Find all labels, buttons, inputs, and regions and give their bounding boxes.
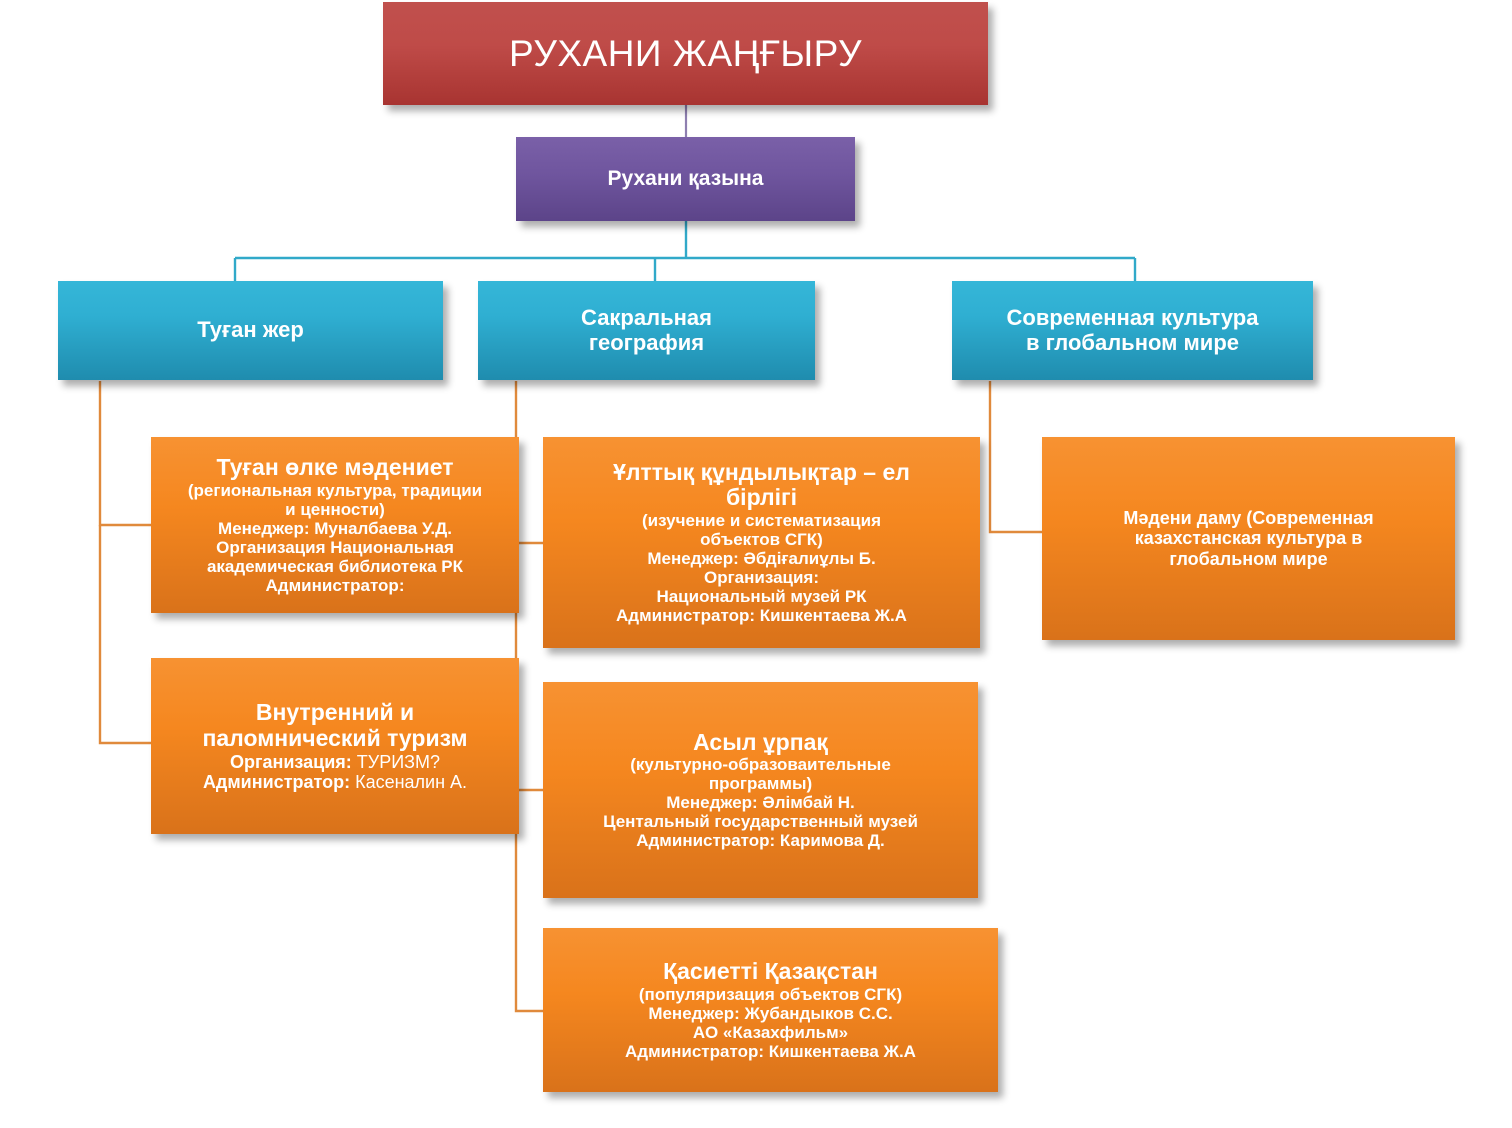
- branch-1-label: Туған жер: [66, 318, 435, 343]
- program-box-tugan-olke-madeniet[interactable]: Туған өлке мәдениет (региональная культу…: [151, 437, 519, 613]
- branch-2-line-1: Сакральная: [486, 306, 807, 331]
- wire-branch2-to-prog3: [516, 790, 543, 1011]
- program-box-vnutrenniy-turizm[interactable]: Внутренний и паломнический туризм Органи…: [151, 658, 519, 834]
- program-asyl-urpaq-manager: Менеджер: Әлімбай Н.: [551, 793, 970, 812]
- program-turizm-org-label: Организация:: [230, 752, 352, 772]
- program-ulttyq-heading-a: Ұлттық құндылықтар – ел: [551, 460, 972, 486]
- root-title-label: РУХАНИ ЖАҢҒЫРУ: [391, 33, 980, 74]
- program-ulttyq-manager: Менеджер: Әбдіғалиұлы Б.: [551, 549, 972, 568]
- branch-1-line-1: Туған жер: [197, 317, 304, 342]
- wire-branch3-to-prog1: [990, 381, 1042, 532]
- branch-3-label: Современная культура в глобальном мире: [960, 306, 1305, 355]
- program-ulttyq-subtitle-b: объектов СГК): [551, 530, 972, 549]
- subtitle-box[interactable]: Рухани қазына: [516, 137, 855, 221]
- program-qasietti-content: Қасиетті Қазақстан (популяризация объект…: [551, 959, 990, 1061]
- program-qasietti-manager: Менеджер: Жубандыков С.С.: [551, 1004, 990, 1023]
- program-turizm-heading-b: паломнический туризм: [159, 726, 511, 752]
- program-qasietti-admin: Администратор: Кишкентаева Ж.А: [551, 1042, 990, 1061]
- program-ulttyq-admin: Администратор: Кишкентаева Ж.А: [551, 606, 972, 625]
- branch-box-tugan-zher[interactable]: Туған жер: [58, 281, 443, 380]
- program-box-asyl-urpaq[interactable]: Асыл ұрпақ (культурно-образоваительные п…: [543, 682, 978, 898]
- program-madeni-damu-line-c: глобальном мире: [1050, 549, 1447, 569]
- branch-box-sakralnaya-geografiya[interactable]: Сакральная география: [478, 281, 815, 380]
- program-qasietti-heading: Қасиетті Қазақстан: [551, 959, 990, 985]
- program-box-qasietti-qazaqstan[interactable]: Қасиетті Қазақстан (популяризация объект…: [543, 928, 998, 1092]
- program-madeni-damu-line-a: Мәдени даму (Современная: [1050, 508, 1447, 528]
- branch-box-sovremennaya-kultura[interactable]: Современная культура в глобальном мире: [952, 281, 1313, 380]
- program-turizm-heading-a: Внутренний и: [159, 700, 511, 726]
- subtitle-label: Рухани қазына: [524, 167, 847, 191]
- program-asyl-urpaq-org: Центальный государственный музей: [551, 812, 970, 831]
- branch-2-label: Сакральная география: [486, 306, 807, 355]
- program-ulttyq-heading-b: бірлігі: [726, 484, 797, 510]
- program-ulttyq-heading-row: бірлігі (изучение и систематизация: [551, 485, 972, 530]
- program-turizm-admin-row: Администратор: Касеналин А.: [159, 772, 511, 792]
- wire-branch1-to-prog1: [100, 381, 151, 525]
- program-tugan-olke-content: Туған өлке мәдениет (региональная культу…: [159, 455, 511, 595]
- branch-3-line-2: в глобальном мире: [960, 331, 1305, 356]
- program-ulttyq-org-b: Национальный музей РК: [551, 587, 972, 606]
- program-madeni-damu-content: Мәдени даму (Современная казахстанская к…: [1050, 508, 1447, 568]
- program-ulttyq-content: Ұлттық құндылықтар – ел бірлігі (изучени…: [551, 460, 972, 626]
- branch-3-line-1: Современная культура: [960, 306, 1305, 331]
- program-asyl-urpaq-admin: Администратор: Каримова Д.: [551, 831, 970, 850]
- branch-2-line-2: география: [486, 331, 807, 356]
- program-turizm-admin-label: Администратор:: [203, 772, 350, 792]
- wire-branch1-to-prog2: [100, 525, 151, 743]
- program-box-ulttyq-qundylyqtar[interactable]: Ұлттық құндылықтар – ел бірлігі (изучени…: [543, 437, 980, 648]
- program-box-madeni-damu[interactable]: Мәдени даму (Современная казахстанская к…: [1042, 437, 1455, 640]
- program-asyl-urpaq-subtitle-b: программы): [551, 774, 970, 793]
- program-turizm-org-row: Организация: ТУРИЗМ?: [159, 752, 511, 772]
- program-asyl-urpaq-content: Асыл ұрпақ (культурно-образоваительные п…: [551, 730, 970, 851]
- program-ulttyq-org-a: Организация:: [551, 568, 972, 587]
- program-turizm-content: Внутренний и паломнический туризм Органи…: [159, 700, 511, 792]
- program-qasietti-subtitle: (популяризация объектов СГК): [551, 985, 990, 1004]
- program-turizm-org-value: ТУРИЗМ?: [352, 752, 440, 772]
- program-qasietti-org: АО «Казахфильм»: [551, 1023, 990, 1042]
- wire-branch2-to-prog2: [516, 543, 543, 790]
- wire-branch2-to-prog1: [516, 381, 543, 543]
- program-turizm-admin-value: Касеналин А.: [350, 772, 467, 792]
- program-tugan-olke-subtitle-a: (региональная культура, традиции: [159, 481, 511, 500]
- org-chart-canvas: РУХАНИ ЖАҢҒЫРУ Рухани қазына Туған жер С…: [0, 0, 1512, 1128]
- program-tugan-olke-heading: Туған өлке мәдениет: [159, 455, 511, 481]
- program-ulttyq-subtitle-a: (изучение и систематизация: [551, 511, 972, 530]
- root-title-box[interactable]: РУХАНИ ЖАҢҒЫРУ: [383, 2, 988, 105]
- program-tugan-olke-subtitle-b: и ценности): [159, 500, 511, 519]
- program-asyl-urpaq-heading: Асыл ұрпақ: [551, 730, 970, 756]
- program-tugan-olke-org-a: Организация Национальная: [159, 538, 511, 557]
- program-tugan-olke-manager: Менеджер: Муналбаева У.Д.: [159, 519, 511, 538]
- program-madeni-damu-line-b: казахстанская культура в: [1050, 528, 1447, 548]
- program-tugan-olke-org-b: академическая библиотека РК: [159, 557, 511, 576]
- program-asyl-urpaq-subtitle-a: (культурно-образоваительные: [551, 755, 970, 774]
- program-tugan-olke-admin: Администратор:: [159, 576, 511, 595]
